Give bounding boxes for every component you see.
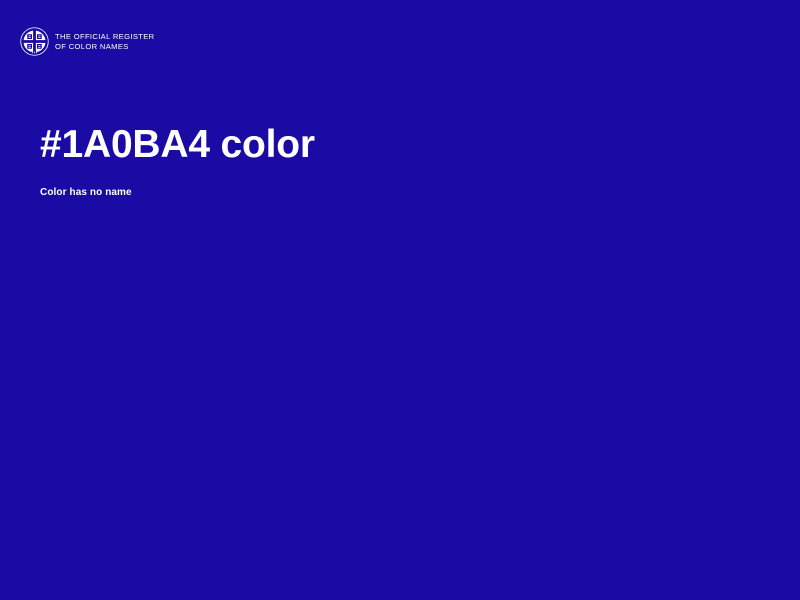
color-name-status: Color has no name — [40, 186, 760, 200]
color-detail-page: THE OFFICIAL REGISTER OF COLOR NAMES #1A… — [0, 0, 800, 600]
brand-wordmark: THE OFFICIAL REGISTER OF COLOR NAMES — [55, 32, 154, 51]
color-info-block: #1A0BA4 color Color has no name — [40, 120, 760, 200]
site-header[interactable]: THE OFFICIAL REGISTER OF COLOR NAMES — [20, 27, 154, 56]
page-title: #1A0BA4 color — [40, 120, 760, 170]
register-seal-icon — [20, 27, 49, 56]
brand-line-1: THE OFFICIAL REGISTER — [55, 32, 154, 41]
brand-line-2: OF COLOR NAMES — [55, 42, 154, 51]
